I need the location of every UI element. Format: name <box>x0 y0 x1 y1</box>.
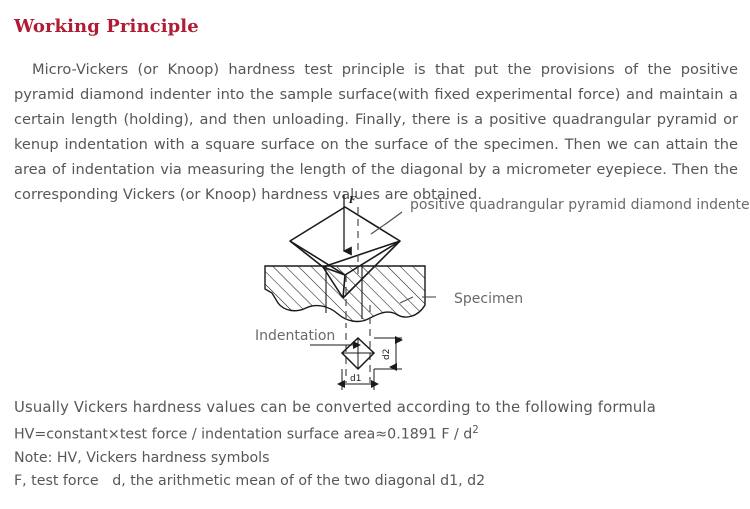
formula-superscript: 2 <box>472 425 479 436</box>
formula-expression: HV=constant×test force / indentation sur… <box>14 427 472 443</box>
pyramid-top-face <box>290 207 400 275</box>
leader-indenter <box>371 212 402 234</box>
force-label: F <box>348 196 356 206</box>
indentation-detail: d2 d1 <box>310 338 402 390</box>
pyramid-edge-right <box>323 241 400 267</box>
dimension-d2-label: d2 <box>382 349 392 360</box>
document-page: Working Principle Micro-Vickers (or Knoo… <box>0 0 750 509</box>
formula-intro-line: Usually Vickers hardness values can be c… <box>14 396 738 419</box>
page-title: Working Principle <box>14 16 199 37</box>
formula-legend-line: F, test force d, the arithmetic mean of … <box>14 470 738 493</box>
vickers-principle-diagram: F <box>250 193 750 393</box>
label-specimen: Specimen <box>454 291 523 307</box>
label-indenter: positive quadrangular pyramid diamond in… <box>410 197 750 213</box>
label-indentation: Indentation <box>255 328 335 344</box>
formula-note-line: Note: HV, Vickers hardness symbols <box>14 447 738 470</box>
intro-paragraph: Micro-Vickers (or Knoop) hardness test p… <box>14 57 738 207</box>
formula-block: Usually Vickers hardness values can be c… <box>14 396 738 493</box>
formula-line: HV=constant×test force / indentation sur… <box>14 419 738 447</box>
dimension-d1-label: d1 <box>350 374 361 384</box>
